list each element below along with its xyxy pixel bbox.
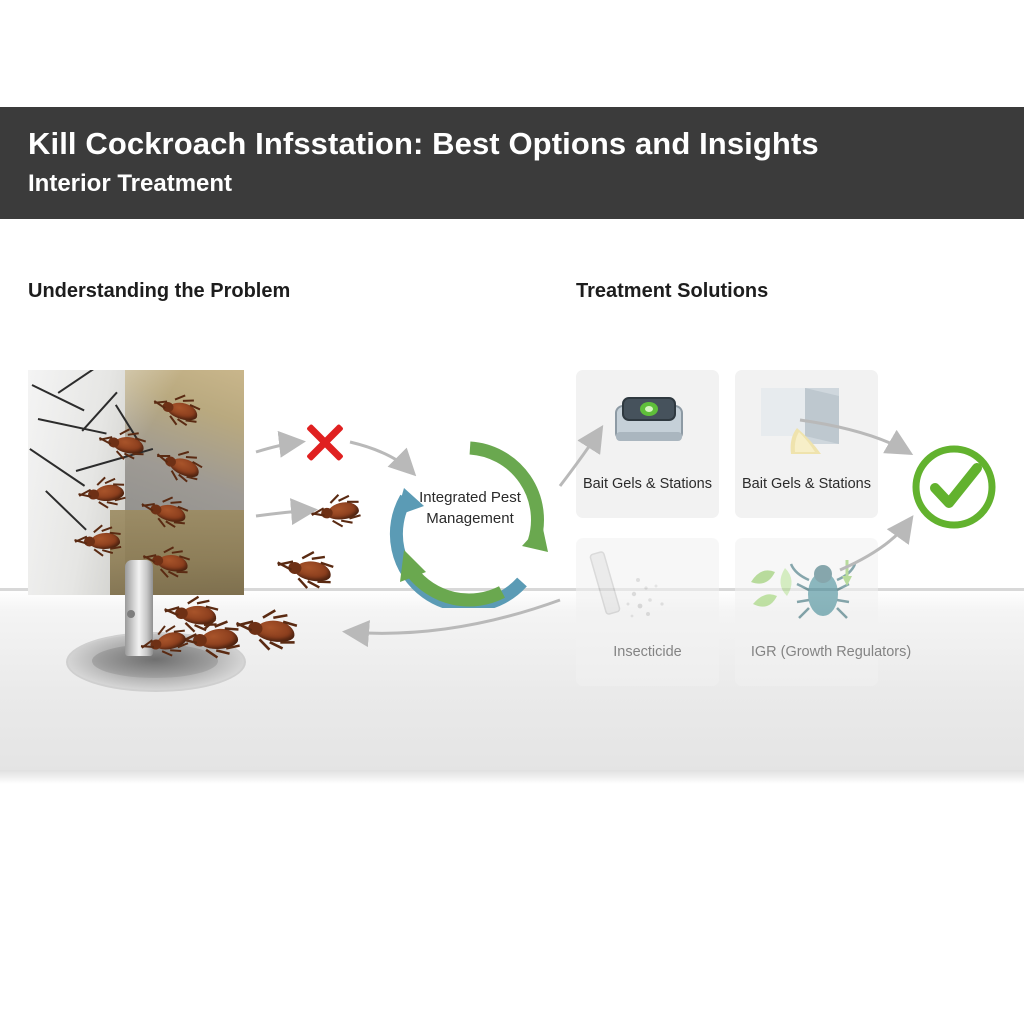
treatment-card-label: Bait Gels & Stations [576,474,719,494]
dust-applicator-icon [735,370,878,474]
treatment-card-label: Insecticide [576,642,719,662]
treatment-card-dust-applicator[interactable]: Bait Gels & Stations [735,370,878,518]
floor-shadow [0,770,1024,784]
cockroach [190,623,247,654]
bait-station-icon [576,370,719,474]
igr-insect-icon [735,538,878,642]
infographic-canvas: Kill Cockroach Infsstation: Best Options… [0,0,1024,1024]
arrow-wall-to-x [256,442,300,452]
treatment-card-insecticide[interactable]: Insecticide [576,538,719,686]
section-heading-solutions: Treatment Solutions [576,280,768,303]
cockroach [284,553,341,588]
treatment-card-label: IGR (Growth Regulators) [731,642,931,662]
cockroach [85,480,131,506]
treatment-card-igr[interactable]: IGR (Growth Regulators) [735,538,878,686]
page-subtitle: Interior Treatment [28,167,1024,201]
arrow-wall-to-roach [256,510,312,516]
pipe-bolt [127,610,135,618]
green-check-mark [911,444,997,530]
section-heading-problem: Understanding the Problem [28,280,290,303]
red-x-mark [300,418,348,466]
ipm-cycle-label: Integrated Pest Management [405,487,535,529]
treatment-card-label: Bait Gels & Stations [735,474,878,494]
cockroach [159,449,208,486]
cockroach [318,496,367,525]
spray-dust-icon [576,538,719,642]
page-title: Kill Cockroach Infsstation: Best Options… [28,125,1024,163]
header-banner: Kill Cockroach Infsstation: Best Options… [0,107,1024,219]
cockroach [158,394,206,427]
cockroach [82,529,127,553]
treatment-card-bait-gels-stations[interactable]: Bait Gels & Stations [576,370,719,518]
